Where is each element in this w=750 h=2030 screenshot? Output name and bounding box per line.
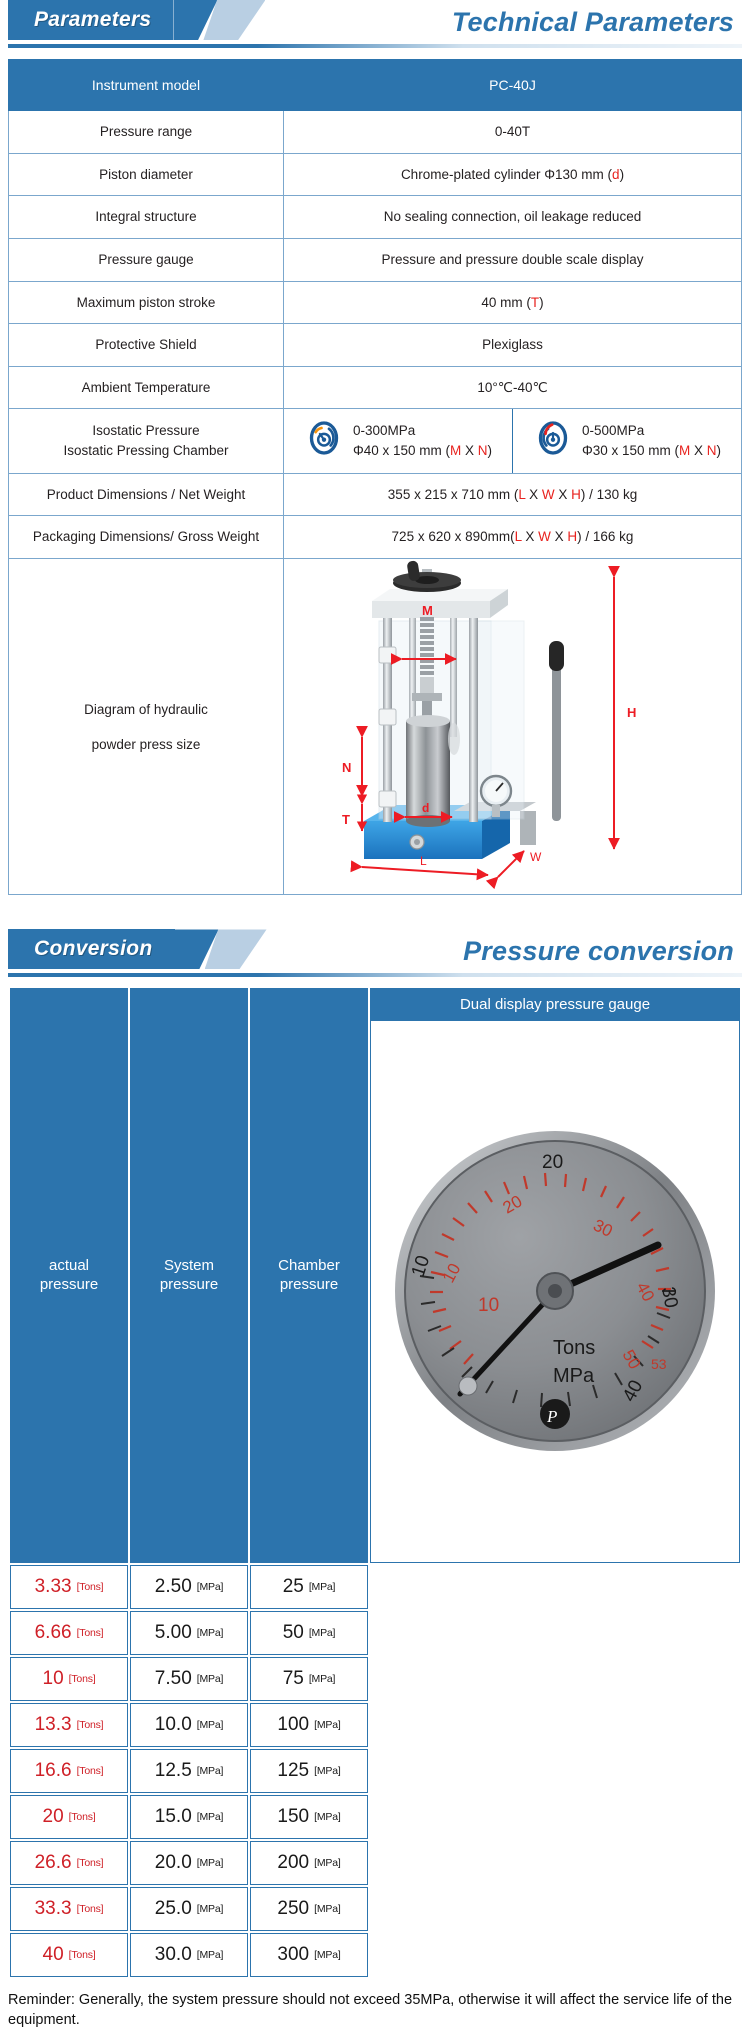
unit-mpa: [MPa] [314,1811,340,1823]
column-header-actual-pressure: actual pressure [10,988,128,1562]
column-header-system-pressure: System pressure [130,988,248,1562]
package-dims-l: L [515,529,522,544]
isostatic-right-dims: Φ30 x 150 mm (M X N) [582,441,721,461]
cell-system-pressure: 2.50[MPa] [130,1565,248,1609]
cell-system-pressure: 12.5[MPa] [130,1749,248,1793]
value-system: 25.0 [155,1898,192,1919]
iso-right-x: X [690,443,707,458]
stroke-tail: ) [539,295,544,310]
spec-sheet-page: Parameters Technical Parameters Instrume… [0,0,750,1754]
table-row-ambient-temperature: Ambient Temperature 10°℃-40℃ [9,366,742,409]
value-system: 20.0 [155,1852,192,1873]
unit-mpa: [MPa] [314,1949,340,1961]
table-row: 33.3[Tons] 25.0[MPa] 250[MPa] [10,1887,740,1931]
unit-mpa: [MPa] [314,1857,340,1869]
technical-parameters-table: Instrument model PC-40J Pressure range 0… [8,59,742,895]
cell-value-integral-structure: No sealing connection, oil leakage reduc… [284,196,742,239]
value-chamber: 200 [277,1852,309,1873]
piston-diameter-tail: ) [620,167,625,182]
unit-mpa: [MPa] [197,1581,223,1593]
value-actual: 6.66 [35,1622,72,1643]
value-chamber: 75 [283,1668,304,1689]
table-row-product-dimensions: Product Dimensions / Net Weight 355 x 21… [9,473,742,516]
unit-tons: [Tons] [77,1719,104,1731]
hdr-system-1: System [133,1257,245,1275]
gauge-mpa-20: 20 [542,1152,563,1173]
isostatic-key-line1: Isostatic Pressure [15,421,277,441]
dual-display-pressure-gauge: 10 20 30 40 50 53 10 [390,1126,720,1456]
conversion-tag-label: Conversion [8,929,175,969]
cell-key-pressure-gauge: Pressure gauge [9,238,284,281]
value-chamber: 250 [277,1898,309,1919]
cell-value-pressure-gauge: Pressure and pressure double scale displ… [284,238,742,281]
banner-underline [8,973,742,977]
cell-actual-pressure: 40[Tons] [10,1933,128,1977]
table-row: 26.6[Tons] 20.0[MPa] 200[MPa] [10,1841,740,1885]
unit-mpa: [MPa] [314,1903,340,1915]
cell-actual-pressure: 33.3[Tons] [10,1887,128,1931]
table-row: 20[Tons] 15.0[MPa] 150[MPa] [10,1795,740,1839]
dim-label-m: M [422,603,433,618]
cell-actual-pressure: 13.3[Tons] [10,1703,128,1747]
iso-left-post: ) [488,443,493,458]
unit-tons: [Tons] [69,1949,96,1961]
cell-chamber-pressure: 125[MPa] [250,1749,368,1793]
stroke-symbol: T [531,295,539,310]
pressure-gauge-icon [304,418,344,464]
parameters-headline: Technical Parameters [452,2,734,42]
gauge-tons-53: 53 [651,1356,667,1372]
unit-mpa: [MPa] [197,1673,223,1685]
cell-value-pressure-range: 0-40T [284,111,742,154]
gauge-brand-mark: P [546,1407,557,1426]
table-row-packaging-dimensions: Packaging Dimensions/ Gross Weight 725 x… [9,516,742,559]
unit-tons: [Tons] [77,1581,104,1593]
dim-label-l: L [420,854,427,868]
unit-mpa: [MPa] [197,1949,223,1961]
package-dims-pre: 725 x 620 x 890mm( [392,529,515,544]
iso-left-x: X [461,443,478,458]
reminder-note: Reminder: Generally, the system pressure… [8,1990,742,2030]
table-row-protective-shield: Protective Shield Plexiglass [9,324,742,367]
cell-key-diagram: Diagram of hydraulic powder press size [9,558,284,895]
iso-right-m: M [679,443,690,458]
table-row: 10[Tons] 7.50[MPa] 75[MPa] [10,1657,740,1701]
column-header-chamber-pressure: Chamber pressure [250,988,368,1562]
value-actual: 3.33 [35,1576,72,1597]
cell-key-piston-diameter: Piston diameter [9,153,284,196]
dim-label-h: H [627,705,636,720]
diagram-caption: Diagram of hydraulic powder press size [9,692,283,762]
cell-key-max-piston-stroke: Maximum piston stroke [9,281,284,324]
cell-key-instrument-model: Instrument model [9,60,284,111]
table-row-integral-structure: Integral structure No sealing connection… [9,196,742,239]
value-actual: 33.3 [35,1898,72,1919]
isostatic-option-300mpa: 0-300MPa Φ40 x 150 mm (M X N) [284,409,512,473]
hdr-chamber-1: Chamber [253,1257,365,1275]
cell-key-product-dimensions: Product Dimensions / Net Weight [9,473,284,516]
conversion-section-banner: Conversion Pressure conversion [0,929,750,977]
table-row: 6.66[Tons] 5.00[MPa] 50[MPa] [10,1611,740,1655]
isostatic-left-text: 0-300MPa Φ40 x 150 mm (M X N) [353,421,492,462]
value-system: 30.0 [155,1944,192,1965]
isostatic-options: 0-300MPa Φ40 x 150 mm (M X N) [284,409,741,473]
cell-system-pressure: 5.00[MPa] [130,1611,248,1655]
diagram-caption-line2: powder press size [9,727,283,762]
gauge-figure-wrap: 10 20 30 40 50 53 10 [370,1021,740,1563]
value-actual: 40 [43,1944,64,1965]
banner-underline [8,44,742,48]
conversion-headline: Pressure conversion [463,931,734,971]
product-dims-w: W [542,487,555,502]
product-dims-x2: X [555,487,572,502]
unit-tons: [Tons] [77,1903,104,1915]
cell-value-isostatic: 0-300MPa Φ40 x 150 mm (M X N) [284,409,742,474]
value-actual: 16.6 [35,1760,72,1781]
section-spacer [0,895,750,929]
table-row: 40[Tons] 30.0[MPa] 300[MPa] [10,1933,740,1977]
cell-value-protective-shield: Plexiglass [284,324,742,367]
piston-diameter-symbol: d [612,167,620,182]
hdr-actual-2: pressure [13,1276,125,1294]
iso-left-n: N [478,443,488,458]
parameters-tag-group: Parameters [8,0,265,40]
cell-system-pressure: 7.50[MPa] [130,1657,248,1701]
table-row-max-piston-stroke: Maximum piston stroke 40 mm (T) [9,281,742,324]
hdr-actual-1: actual [13,1257,125,1275]
package-dims-h: H [567,529,577,544]
package-dims-w: W [538,529,551,544]
isostatic-left-dims: Φ40 x 150 mm (M X N) [353,441,492,461]
product-dims-x1: X [525,487,542,502]
value-actual: 13.3 [35,1714,72,1735]
isostatic-left-range: 0-300MPa [353,421,492,441]
isostatic-right-text: 0-500MPa Φ30 x 150 mm (M X N) [582,421,721,462]
cell-key-pressure-range: Pressure range [9,111,284,154]
value-system: 10.0 [155,1714,192,1735]
cell-actual-pressure: 26.6[Tons] [10,1841,128,1885]
column-header-dual-display-gauge: Dual display pressure gauge [370,988,740,1562]
table-row: 3.33[Tons] 2.50[MPa] 25[MPa] [10,1565,740,1609]
cell-chamber-pressure: 250[MPa] [250,1887,368,1931]
unit-tons: [Tons] [77,1765,104,1777]
cell-actual-pressure: 20[Tons] [10,1795,128,1839]
cell-chamber-pressure: 150[MPa] [250,1795,368,1839]
hdr-chamber-2: pressure [253,1276,365,1294]
cell-key-isostatic: Isostatic Pressure Isostatic Pressing Ch… [9,409,284,474]
cell-value-packaging-dimensions: 725 x 620 x 890mm(L X W X H) / 166 kg [284,516,742,559]
cell-actual-pressure: 3.33[Tons] [10,1565,128,1609]
cell-system-pressure: 30.0[MPa] [130,1933,248,1977]
gauge-inner-10: 10 [478,1295,499,1316]
parameters-tag-label: Parameters [8,0,173,40]
table-row-pressure-gauge: Pressure gauge Pressure and pressure dou… [9,238,742,281]
unit-mpa: [MPa] [197,1719,223,1731]
unit-mpa: [MPa] [314,1719,340,1731]
value-actual: 26.6 [35,1852,72,1873]
cell-chamber-pressure: 50[MPa] [250,1611,368,1655]
cell-value-instrument-model: PC-40J [284,60,742,111]
cell-value-ambient-temperature: 10°℃-40℃ [284,366,742,409]
hdr-gauge-label: Dual display pressure gauge [371,989,739,1020]
isostatic-option-500mpa: 0-500MPa Φ30 x 150 mm (M X N) [512,409,741,473]
dim-label-w: W [530,850,542,864]
cell-system-pressure: 25.0[MPa] [130,1887,248,1931]
value-system: 2.50 [155,1576,192,1597]
cell-system-pressure: 15.0[MPa] [130,1795,248,1839]
value-chamber: 150 [277,1806,309,1827]
table-row-instrument-model: Instrument model PC-40J [9,60,742,111]
conversion-header-row: actual pressure System pressure Chamber … [10,988,740,1562]
cell-value-max-piston-stroke: 40 mm (T) [284,281,742,324]
unit-tons: [Tons] [77,1627,104,1639]
cell-key-packaging-dimensions: Packaging Dimensions/ Gross Weight [9,516,284,559]
unit-tons: [Tons] [77,1857,104,1869]
iso-left-m: M [450,443,461,458]
table-row-isostatic-pressure: Isostatic Pressure Isostatic Pressing Ch… [9,409,742,474]
table-row: 13.3[Tons] 10.0[MPa] 100[MPa] [10,1703,740,1747]
value-actual: 20 [43,1806,64,1827]
table-row-piston-diameter: Piston diameter Chrome-plated cylinder Φ… [9,153,742,196]
gauge-mpa-30: 30 [657,1286,681,1310]
cell-chamber-pressure: 300[MPa] [250,1933,368,1977]
unit-tons: [Tons] [69,1811,96,1823]
unit-mpa: [MPa] [197,1811,223,1823]
pressure-conversion-table: actual pressure System pressure Chamber … [8,986,742,1978]
diagram-caption-line1: Diagram of hydraulic [9,692,283,727]
unit-mpa: [MPa] [197,1857,223,1869]
cell-system-pressure: 20.0[MPa] [130,1841,248,1885]
conversion-tag-group: Conversion [8,929,267,969]
cell-actual-pressure: 10[Tons] [10,1657,128,1701]
cell-chamber-pressure: 25[MPa] [250,1565,368,1609]
unit-mpa: [MPa] [309,1673,335,1685]
value-chamber: 50 [283,1622,304,1643]
unit-mpa: [MPa] [309,1581,335,1593]
iso-right-pre: Φ30 x 150 mm ( [582,443,679,458]
value-chamber: 300 [277,1944,309,1965]
pressure-gauge-icon [533,418,573,464]
table-row-pressure-range: Pressure range 0-40T [9,111,742,154]
cell-chamber-pressure: 100[MPa] [250,1703,368,1747]
cell-actual-pressure: 6.66[Tons] [10,1611,128,1655]
unit-tons: [Tons] [69,1673,96,1685]
iso-right-n: N [707,443,717,458]
piston-diameter-text: Chrome-plated cylinder Φ130 mm ( [401,167,612,182]
unit-mpa: [MPa] [197,1903,223,1915]
stroke-text: 40 mm ( [481,295,531,310]
isostatic-right-range: 0-500MPa [582,421,721,441]
gauge-label-tons: Tons [553,1337,595,1359]
unit-mpa: [MPa] [197,1765,223,1777]
value-actual: 10 [43,1668,64,1689]
cell-key-integral-structure: Integral structure [9,196,284,239]
dim-label-d: d [422,801,429,815]
value-chamber: 100 [277,1714,309,1735]
package-dims-x1: X [522,529,539,544]
table-row-diagram: Diagram of hydraulic powder press size [9,558,742,895]
parameters-section-banner: Parameters Technical Parameters [0,0,750,48]
cell-key-protective-shield: Protective Shield [9,324,284,367]
package-dims-x2: X [551,529,568,544]
value-chamber: 125 [277,1760,309,1781]
product-dims-pre: 355 x 215 x 710 mm ( [388,487,519,502]
unit-mpa: [MPa] [314,1765,340,1777]
isostatic-key-line2: Isostatic Pressing Chamber [15,441,277,461]
dim-label-t: T [342,812,350,827]
conversion-body: 3.33[Tons] 2.50[MPa] 25[MPa] 6.66[Tons] … [10,1565,740,1977]
value-system: 12.5 [155,1760,192,1781]
value-system: 7.50 [155,1668,192,1689]
gauge-label-mpa: MPa [553,1365,595,1387]
cell-key-ambient-temperature: Ambient Temperature [9,366,284,409]
hdr-system-2: pressure [133,1276,245,1294]
value-chamber: 25 [283,1576,304,1597]
cell-chamber-pressure: 200[MPa] [250,1841,368,1885]
table-row: 16.6[Tons] 12.5[MPa] 125[MPa] [10,1749,740,1793]
cell-actual-pressure: 16.6[Tons] [10,1749,128,1793]
hydraulic-press-diagram: M N T d H L W [284,559,750,889]
value-system: 15.0 [155,1806,192,1827]
value-system: 5.00 [155,1622,192,1643]
package-dims-post: ) / 166 kg [577,529,633,544]
product-dims-h: H [571,487,581,502]
cell-value-product-dimensions: 355 x 215 x 710 mm (L X W X H) / 130 kg [284,473,742,516]
cell-system-pressure: 10.0[MPa] [130,1703,248,1747]
cell-value-piston-diameter: Chrome-plated cylinder Φ130 mm (d) [284,153,742,196]
iso-left-pre: Φ40 x 150 mm ( [353,443,450,458]
cell-value-diagram: M N T d H L W [284,558,742,895]
product-dims-post: ) / 130 kg [581,487,637,502]
cell-chamber-pressure: 75[MPa] [250,1657,368,1701]
iso-right-post: ) [717,443,722,458]
unit-mpa: [MPa] [197,1627,223,1639]
unit-mpa: [MPa] [309,1627,335,1639]
dim-label-n: N [342,760,351,775]
